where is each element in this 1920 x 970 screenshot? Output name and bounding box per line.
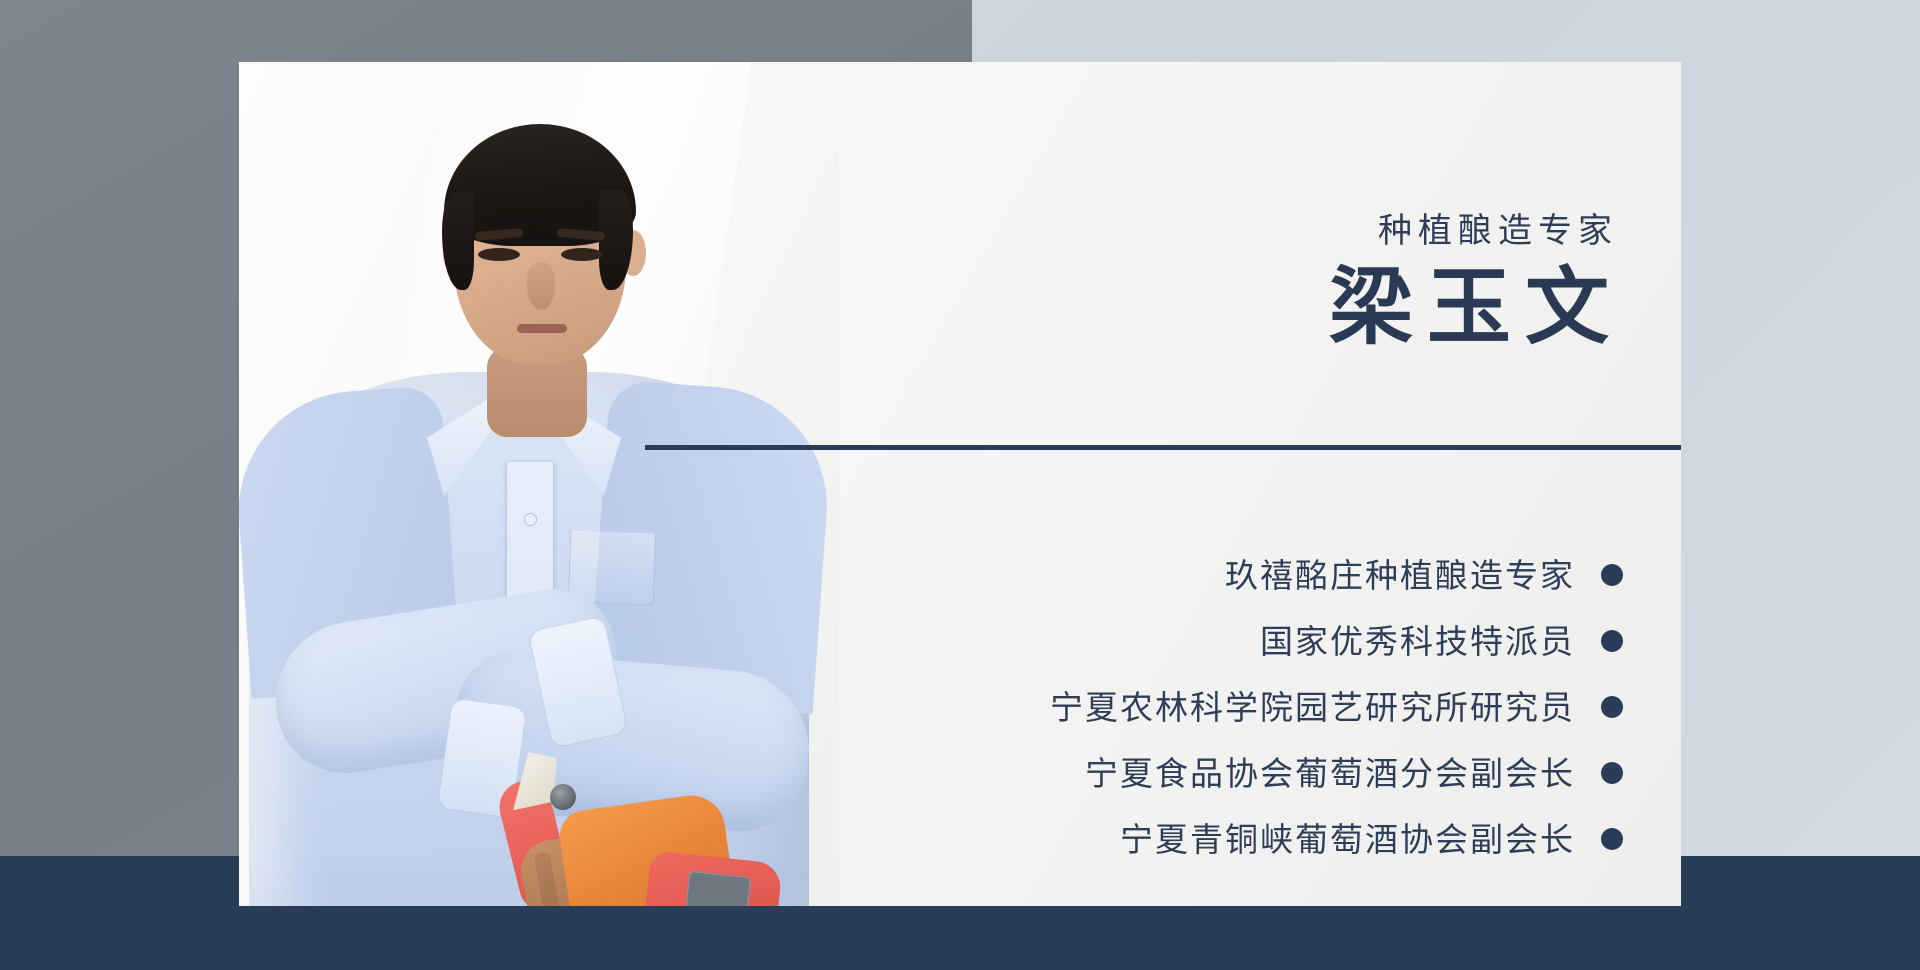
credentials-list: 玖禧酩庄种植酿造专家 国家优秀科技特派员 宁夏农林科学院园艺研究所研究员 宁夏食… [783, 542, 1623, 872]
profile-card: 种植酿造专家 梁玉文 玖禧酩庄种植酿造专家 国家优秀科技特派员 宁夏农林科学院园… [239, 62, 1681, 906]
expert-subtitle: 种植酿造专家 [1378, 214, 1618, 248]
credential-label: 玖禧酩庄种植酿造专家 [1225, 559, 1575, 592]
shirt-pocket [568, 531, 656, 606]
bullet-dot-icon [1601, 630, 1623, 652]
expert-name: 梁玉文 [1329, 262, 1623, 353]
bullet-dot-icon [1601, 696, 1623, 718]
bullet-dot-icon [1601, 762, 1623, 784]
eye-right [561, 248, 603, 261]
pruning-shears-label [685, 871, 751, 906]
credential-label: 宁夏农林科学院园艺研究所研究员 [1050, 691, 1575, 724]
expert-portrait-photo [239, 62, 839, 906]
list-item: 宁夏食品协会葡萄酒分会副会长 [783, 740, 1623, 806]
list-item: 玖禧酩庄种植酿造专家 [783, 542, 1623, 608]
divider-line [645, 445, 1681, 450]
credential-label: 宁夏青铜峡葡萄酒协会副会长 [1120, 823, 1575, 856]
bullet-dot-icon [1601, 564, 1623, 586]
credential-label: 宁夏食品协会葡萄酒分会副会长 [1085, 757, 1575, 790]
list-item: 国家优秀科技特派员 [783, 608, 1623, 674]
mouth [517, 324, 567, 333]
shirt-button [525, 514, 536, 525]
bullet-dot-icon [1601, 828, 1623, 850]
eye-left [478, 248, 520, 261]
list-item: 宁夏农林科学院园艺研究所研究员 [783, 674, 1623, 740]
credential-label: 国家优秀科技特派员 [1260, 625, 1575, 658]
poster-stage: 种植酿造专家 梁玉文 玖禧酩庄种植酿造专家 国家优秀科技特派员 宁夏农林科学院园… [0, 0, 1920, 970]
pruning-shears-pivot-icon [550, 784, 576, 810]
nose [527, 262, 555, 310]
list-item: 宁夏青铜峡葡萄酒协会副会长 [783, 806, 1623, 872]
